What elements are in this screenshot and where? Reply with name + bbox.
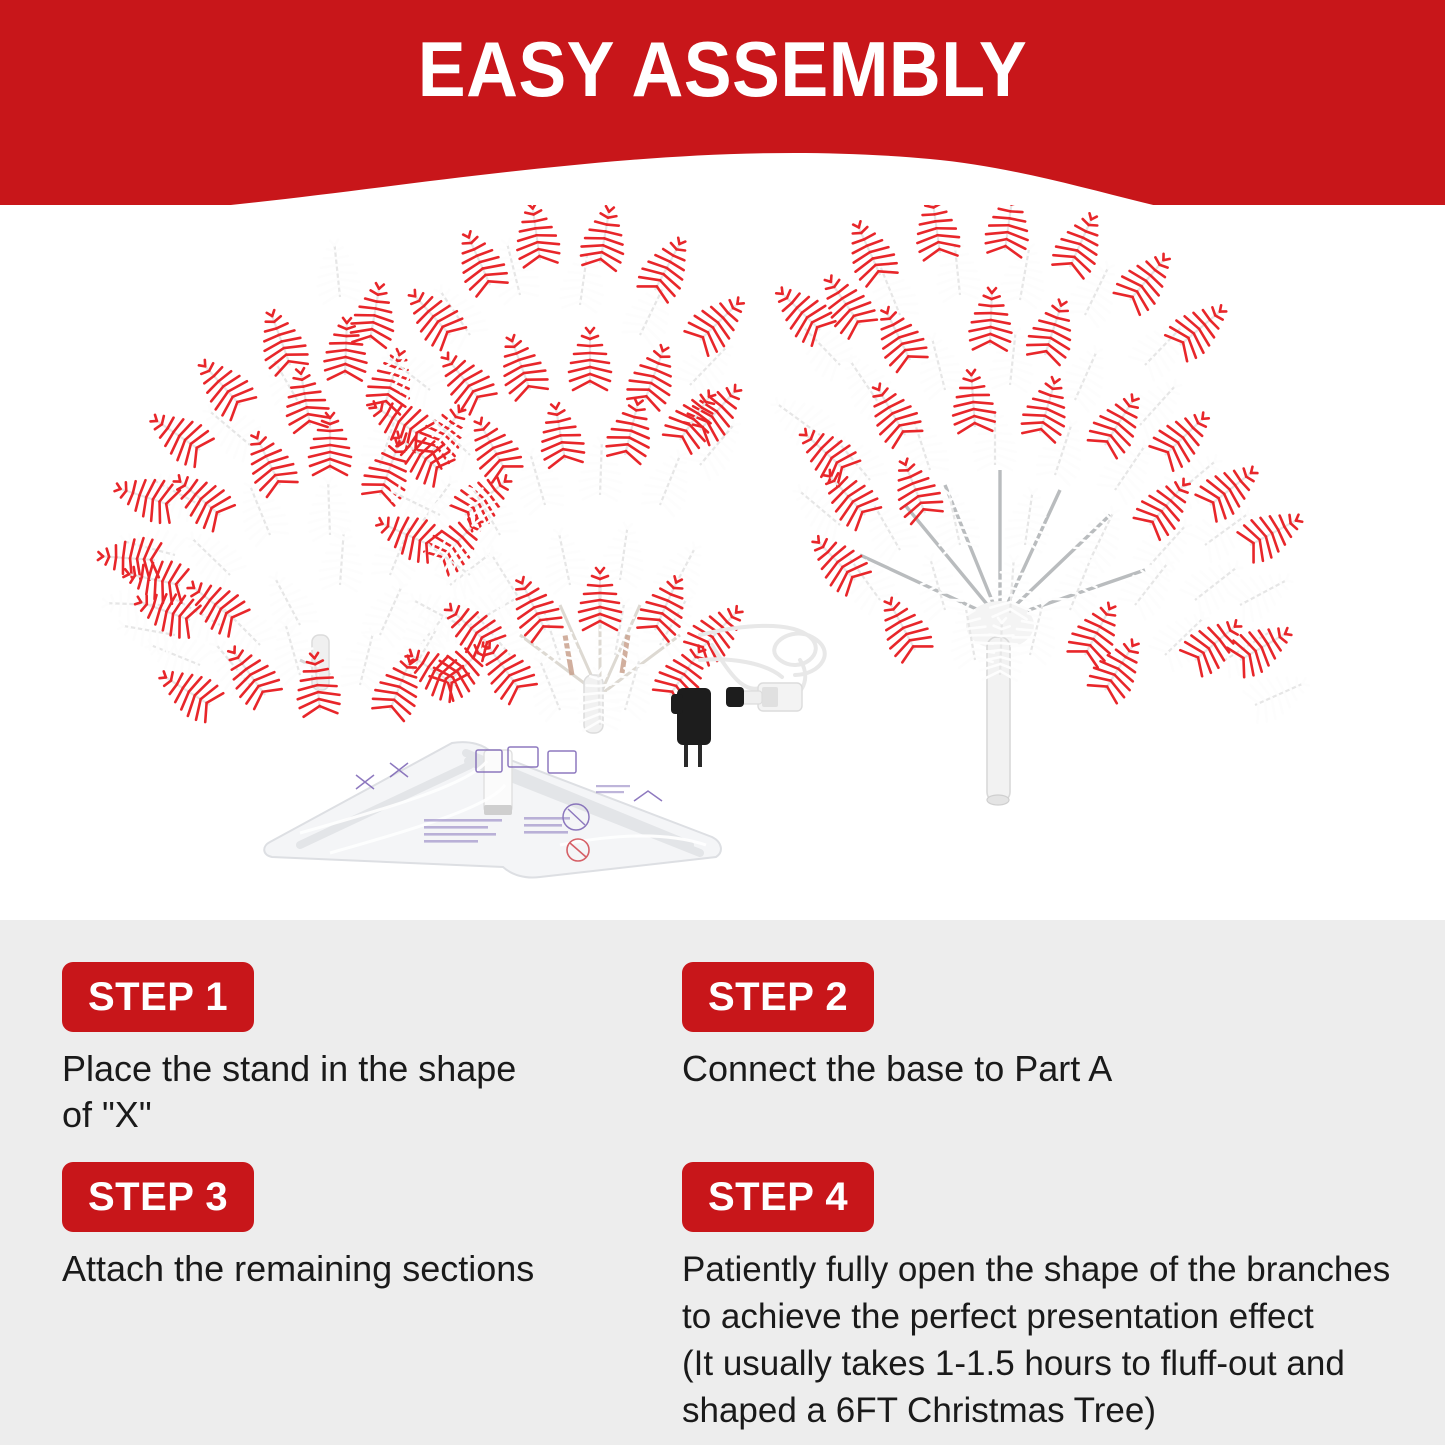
step-1-text: Place the stand in the shape of "X" bbox=[62, 1046, 662, 1138]
product-photo-illustration bbox=[0, 205, 1445, 920]
step-3-text: Attach the remaining sections bbox=[62, 1246, 662, 1292]
product-photo bbox=[0, 205, 1445, 920]
step-3-badge: STEP 3 bbox=[62, 1162, 254, 1232]
step-4-badge: STEP 4 bbox=[682, 1162, 874, 1232]
step-4-block: STEP 4 Patiently fully open the shape of… bbox=[682, 1162, 1432, 1434]
page-title: EASY ASSEMBLY bbox=[58, 26, 1387, 113]
step-3-block: STEP 3 Attach the remaining sections bbox=[62, 1162, 662, 1292]
step-2-text: Connect the base to Part A bbox=[682, 1046, 1422, 1092]
step-2-block: STEP 2 Connect the base to Part A bbox=[682, 962, 1422, 1092]
step-1-block: STEP 1 Place the stand in the shape of "… bbox=[62, 962, 662, 1138]
step-1-badge: STEP 1 bbox=[62, 962, 254, 1032]
step-4-text: Patiently fully open the shape of the br… bbox=[682, 1246, 1432, 1434]
cord-connector bbox=[726, 683, 802, 711]
step-2-badge: STEP 2 bbox=[682, 962, 874, 1032]
steps-section: STEP 1 Place the stand in the shape of "… bbox=[0, 920, 1445, 1445]
